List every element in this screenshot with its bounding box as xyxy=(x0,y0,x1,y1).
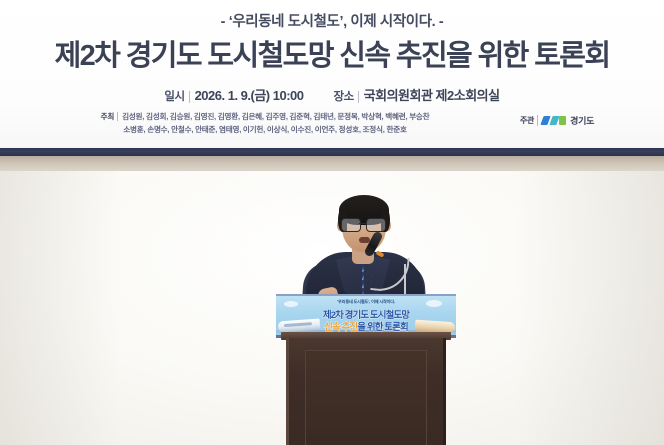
sponsor-block: 주관 경기도 xyxy=(520,114,594,127)
banner-meta-line: 일시2026. 1. 9.(금) 10:00장소국회의원회관 제2소회의실 xyxy=(0,85,664,104)
projection-screen: - ‘우리동네 도시철도’, 이제 시작이다. - 제2차 경기도 도시철도망 … xyxy=(0,0,664,149)
banner-subtitle: - ‘우리동네 도시철도’, 이제 시작이다. - xyxy=(0,10,664,31)
eyeglass-lens-right xyxy=(366,218,386,232)
screen-frame xyxy=(0,148,664,156)
sponsor-name: 경기도 xyxy=(570,114,594,127)
gyeonggi-logo-icon xyxy=(542,116,566,125)
podium-front-panel xyxy=(305,350,427,445)
podium xyxy=(286,338,446,445)
microphone-stem xyxy=(404,264,406,296)
sponsor-label: 주관 xyxy=(520,115,538,126)
banner-title: 제2차 경기도 도시철도망 신속 추진을 위한 토론회 xyxy=(0,32,664,74)
lectern-sign-subtitle: ‘우리동네 도시철도’, 이제 시작이다. xyxy=(276,299,456,305)
venue-value: 국회의원회관 제2소회의실 xyxy=(364,88,500,103)
wall-shadow-right xyxy=(514,171,664,445)
venue-label: 장소 xyxy=(334,91,359,103)
wall-shadow-left xyxy=(0,171,120,445)
photo-scene: - ‘우리동네 도시철도’, 이제 시작이다. - 제2차 경기도 도시철도망 … xyxy=(0,0,664,445)
lectern-sign-line2: 신속 추진을 위한 토론회 xyxy=(276,319,456,333)
wall-trim-band xyxy=(0,156,664,172)
date-label: 일시 xyxy=(164,91,189,103)
host-line-2: 소병훈, 손명수, 안철수, 안태준, 염태영, 이기헌, 이상식, 이수진, … xyxy=(30,123,500,136)
host-names-1: 김성원, 김성회, 김승원, 김영진, 김영환, 김은혜, 김주영, 김준혁, … xyxy=(122,112,429,121)
eyeglass-bridge xyxy=(359,223,366,224)
host-label: 주최 xyxy=(101,112,118,121)
host-list: 주최김성원, 김성회, 김승원, 김영진, 김영환, 김은혜, 김주영, 김준혁… xyxy=(30,110,500,136)
host-line-1: 주최김성원, 김성회, 김승원, 김영진, 김영환, 김은혜, 김주영, 김준혁… xyxy=(30,110,500,123)
eyeglass-lens-left xyxy=(341,218,361,232)
date-value: 2026. 1. 9.(금) 10:00 xyxy=(195,88,304,103)
